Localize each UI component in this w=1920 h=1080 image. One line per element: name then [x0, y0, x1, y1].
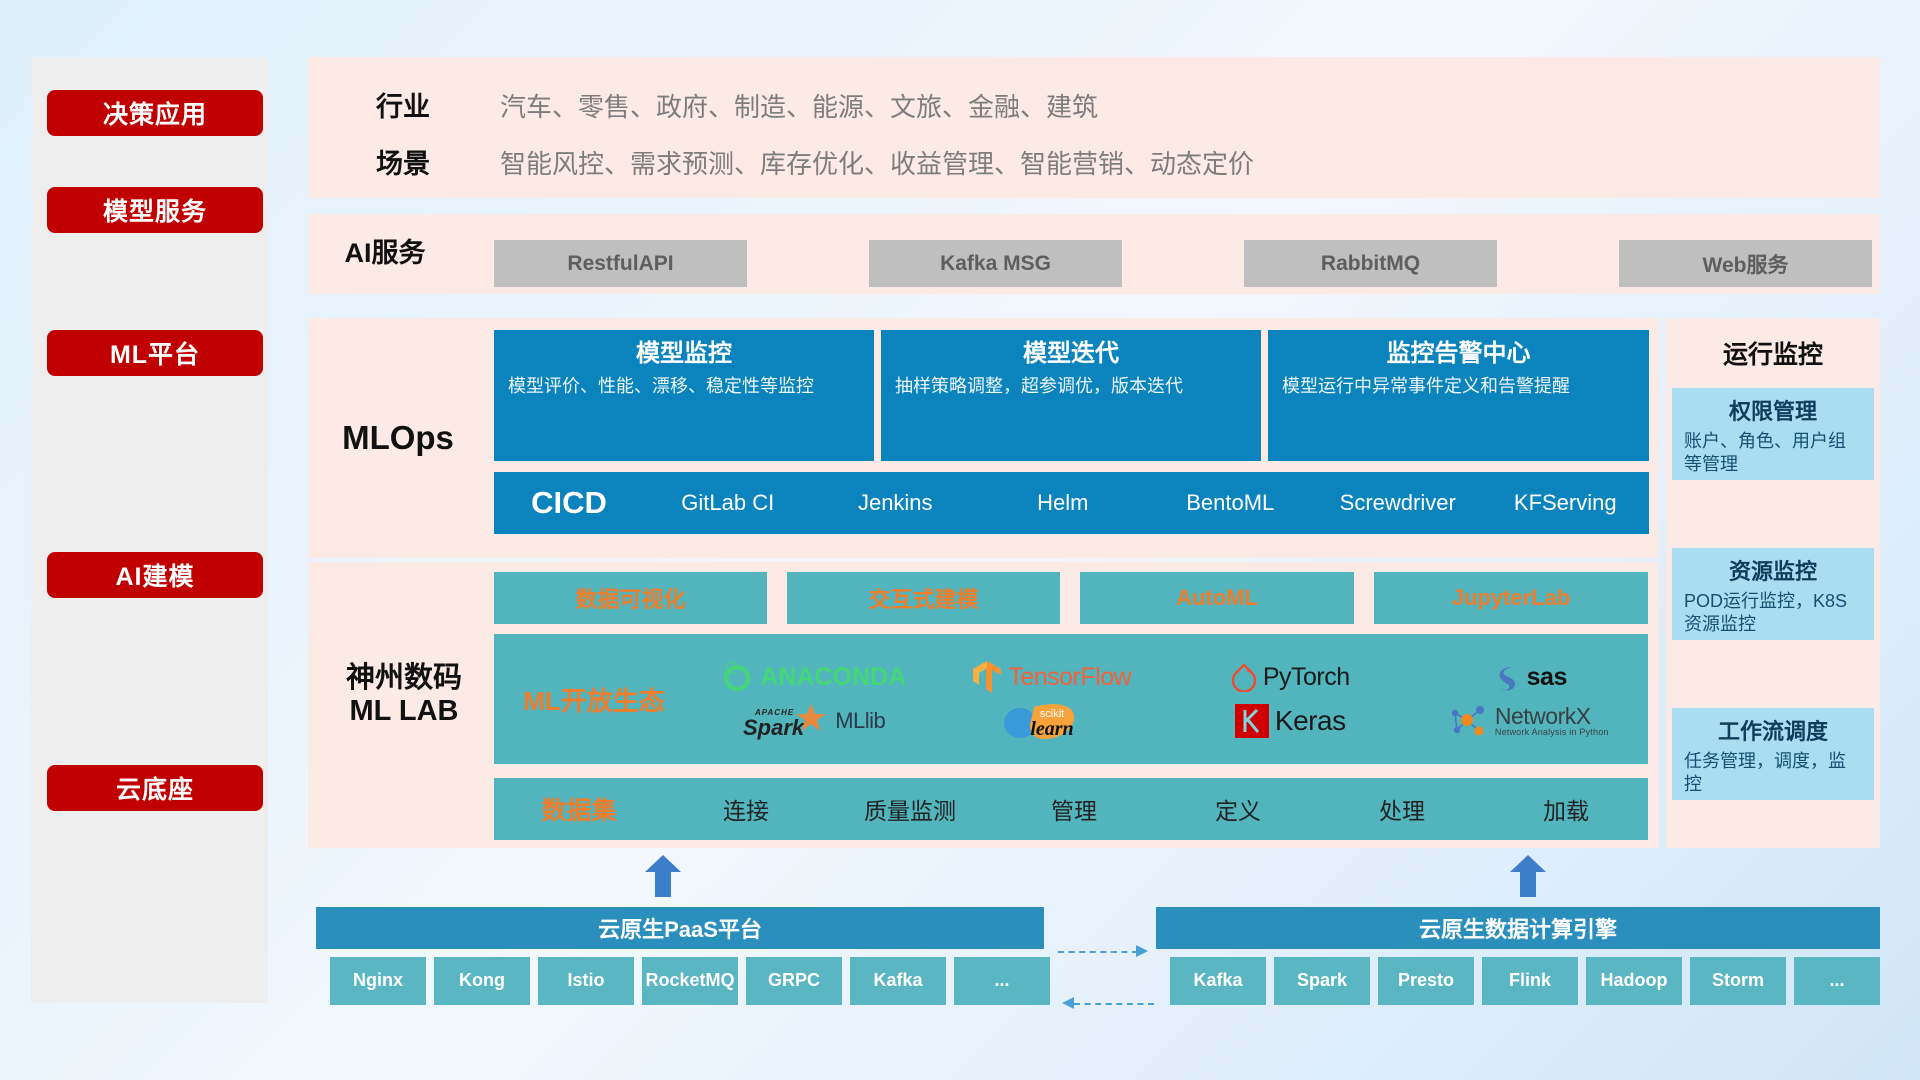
anaconda-logo: ANACONDA [720, 660, 906, 694]
scenario-value: 智能风控、需求预测、库存优化、收益管理、智能营销、动态定价 [500, 144, 1254, 181]
dataset-bar: 数据集 连接 质量监测 管理 定义 处理 加载 [494, 778, 1648, 840]
dataset-title: 数据集 [494, 791, 664, 827]
mlops-card-alert-center[interactable]: 监控告警中心 模型运行中异常事件定义和告警提醒 [1268, 330, 1649, 461]
cicd-item-jenkins[interactable]: Jenkins [812, 490, 980, 515]
service-chip-restfulapi[interactable]: RestfulAPI [494, 240, 747, 287]
ml-lab-label-line2: ML LAB [349, 695, 458, 728]
leaf-hadoop[interactable]: Hadoop [1586, 957, 1682, 1005]
leaf-istio[interactable]: Istio [538, 957, 634, 1005]
svg-text:Spark: Spark [743, 715, 806, 740]
scenario-label: 场景 [348, 142, 458, 181]
ml-ecosystem-logo-grid: ANACONDA TensorFlow PyTorch [694, 655, 1648, 743]
industry-value: 汽车、零售、政府、制造、能源、文旅、金融、建筑 [500, 87, 1098, 124]
mlops-card-title: 模型监控 [508, 340, 860, 369]
leaf-kafka[interactable]: Kafka [850, 957, 946, 1005]
ml-ecosystem-panel: ML开放生态 ANACONDA TensorFlow [494, 634, 1648, 764]
dataset-item-load[interactable]: 加载 [1484, 792, 1648, 826]
monitoring-card-title: 资源监控 [1684, 554, 1862, 586]
leaf-rocketmq[interactable]: RocketMQ [642, 957, 738, 1005]
monitoring-title: 运行监控 [1666, 326, 1880, 380]
arrow-up-data-engine [1508, 855, 1548, 897]
networkx-logo: NetworkX Network Analysis in Python [1449, 703, 1609, 739]
mllib-logo-text: MLlib [835, 708, 885, 734]
ai-service-label: AI服务 [320, 214, 450, 294]
cicd-title: CICD [494, 485, 644, 521]
mlops-card-desc: 模型运行中异常事件定义和告警提醒 [1282, 375, 1635, 399]
sas-logo-text: sas [1527, 663, 1567, 692]
cicd-bar: CICD GitLab CI Jenkins Helm BentoML Scre… [494, 472, 1649, 534]
cloud-native-data-engine-bar[interactable]: 云原生数据计算引擎 [1156, 907, 1880, 949]
leaf-nginx[interactable]: Nginx [330, 957, 426, 1005]
sas-logo: sas [1491, 662, 1567, 692]
sas-icon [1491, 662, 1521, 692]
anaconda-icon [720, 660, 754, 694]
mlops-card-model-iteration[interactable]: 模型迭代 抽样策略调整，超参调优，版本迭代 [881, 330, 1261, 461]
tool-chip-data-visualization[interactable]: 数据可视化 [494, 572, 767, 624]
cicd-item-bentoml[interactable]: BentoML [1147, 490, 1315, 515]
cloud-native-paas-bar[interactable]: 云原生PaaS平台 [316, 907, 1044, 949]
cicd-item-kfserving[interactable]: KFServing [1482, 490, 1650, 515]
mlops-card-title: 监控告警中心 [1282, 340, 1635, 369]
dashed-arrow-right-icon [1136, 943, 1152, 959]
pytorch-icon [1231, 662, 1257, 692]
cicd-item-gitlab-ci[interactable]: GitLab CI [644, 490, 812, 515]
monitoring-card-title: 权限管理 [1684, 394, 1862, 426]
cicd-item-screwdriver[interactable]: Screwdriver [1314, 490, 1482, 515]
ml-ecosystem-title: ML开放生态 [494, 681, 694, 718]
tensorflow-logo-text: TensorFlow [1008, 663, 1131, 692]
leaf-spark[interactable]: Spark [1274, 957, 1370, 1005]
networkx-logo-text: NetworkX [1495, 705, 1609, 728]
mlops-card-desc: 模型评价、性能、漂移、稳定性等监控 [508, 375, 860, 399]
dataset-item-quality[interactable]: 质量监测 [828, 792, 992, 826]
mlops-card-title: 模型迭代 [895, 340, 1247, 369]
spark-icon: APACHE Spark [741, 702, 829, 740]
architecture-diagram: 决策应用 模型服务 ML平台 AI建模 云底座 行业 汽车、零售、政府、制造、能… [0, 0, 1920, 1080]
svg-text:learn: learn [1030, 718, 1073, 740]
rail-chip-decision-app[interactable]: 决策应用 [47, 90, 263, 136]
tensorflow-logo: TensorFlow [972, 660, 1131, 694]
monitoring-card-workflow[interactable]: 工作流调度 任务管理，调度，监控 [1672, 708, 1874, 800]
dashed-arrow-left-icon [1058, 995, 1074, 1011]
arrow-up-paas [643, 855, 683, 897]
ml-lab-label: 神州数码 ML LAB [318, 640, 490, 750]
monitoring-card-desc: 账户、角色、用户组等管理 [1684, 430, 1862, 477]
networkx-logo-subtext: Network Analysis in Python [1495, 728, 1609, 737]
mlops-card-model-monitoring[interactable]: 模型监控 模型评价、性能、漂移、稳定性等监控 [494, 330, 874, 461]
dataset-item-manage[interactable]: 管理 [992, 792, 1156, 826]
rail-chip-cloud-base[interactable]: 云底座 [47, 765, 263, 811]
spark-mllib-logo: APACHE Spark MLlib [741, 702, 885, 740]
leaf-more-right[interactable]: ... [1794, 957, 1880, 1005]
tool-chip-jupyterlab[interactable]: JupyterLab [1374, 572, 1648, 624]
keras-logo-text: Keras [1275, 705, 1346, 737]
leaf-presto[interactable]: Presto [1378, 957, 1474, 1005]
anaconda-logo-text: ANACONDA [760, 663, 906, 692]
monitoring-card-resource[interactable]: 资源监控 POD运行监控，K8S资源监控 [1672, 548, 1874, 640]
tensorflow-icon [972, 660, 1002, 694]
leaf-more-left[interactable]: ... [954, 957, 1050, 1005]
scikit-learn-logo: scikit learn [1000, 699, 1104, 743]
monitoring-card-desc: 任务管理，调度，监控 [1684, 750, 1862, 797]
industry-label: 行业 [348, 85, 458, 124]
monitoring-card-title: 工作流调度 [1684, 714, 1862, 746]
leaf-flink[interactable]: Flink [1482, 957, 1578, 1005]
dataset-item-process[interactable]: 处理 [1320, 792, 1484, 826]
pytorch-logo: PyTorch [1231, 662, 1350, 692]
rail-chip-ai-modeling[interactable]: AI建模 [47, 552, 263, 598]
tool-chip-automl[interactable]: AutoML [1080, 572, 1354, 624]
dataset-item-define[interactable]: 定义 [1156, 792, 1320, 826]
cicd-item-helm[interactable]: Helm [979, 490, 1147, 515]
monitoring-card-permission[interactable]: 权限管理 账户、角色、用户组等管理 [1672, 388, 1874, 480]
scikit-learn-icon: scikit learn [1000, 699, 1104, 743]
keras-logo: Keras [1235, 704, 1346, 738]
decision-app-band: 行业 汽车、零售、政府、制造、能源、文旅、金融、建筑 场景 智能风控、需求预测、… [308, 57, 1880, 198]
pytorch-logo-text: PyTorch [1263, 663, 1350, 692]
dashed-connector-right [1058, 951, 1138, 953]
mlops-card-desc: 抽样策略调整，超参调优，版本迭代 [895, 375, 1247, 399]
dataset-item-connect[interactable]: 连接 [664, 792, 828, 826]
ml-lab-label-line1: 神州数码 [346, 662, 462, 695]
service-chip-web-service[interactable]: Web服务 [1619, 240, 1872, 287]
service-chip-rabbitmq[interactable]: RabbitMQ [1244, 240, 1497, 287]
mlops-label: MLOps [318, 318, 478, 558]
leaf-grpc[interactable]: GRPC [746, 957, 842, 1005]
dashed-connector-left [1074, 1003, 1154, 1005]
leaf-kong[interactable]: Kong [434, 957, 530, 1005]
rail-chip-model-service[interactable]: 模型服务 [47, 187, 263, 233]
rail-chip-ml-platform[interactable]: ML平台 [47, 330, 263, 376]
leaf-kafka-right[interactable]: Kafka [1170, 957, 1266, 1005]
keras-icon [1235, 704, 1269, 738]
leaf-storm[interactable]: Storm [1690, 957, 1786, 1005]
tool-chip-interactive-modeling[interactable]: 交互式建模 [787, 572, 1060, 624]
networkx-icon [1449, 703, 1489, 739]
service-chip-kafka-msg[interactable]: Kafka MSG [869, 240, 1122, 287]
monitoring-card-desc: POD运行监控，K8S资源监控 [1684, 590, 1862, 637]
